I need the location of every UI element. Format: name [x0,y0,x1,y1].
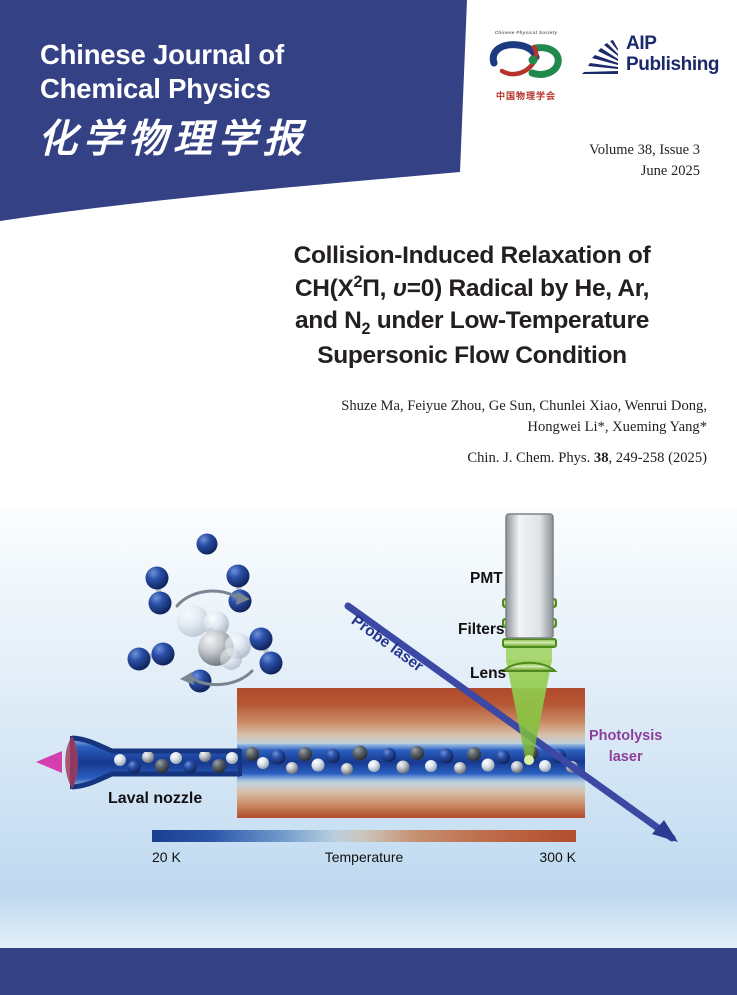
label-lens: Lens [470,665,506,683]
cps-logo-top-text: Chinese Physical Society [478,30,574,35]
label-filters: Filters [458,621,505,639]
chinese-physical-society-logo: Chinese Physical Society 中国物理学会 [478,30,574,102]
authors-line1: Shuze Ma, Feiyue Zhou, Ge Sun, Chunlei X… [247,396,707,417]
issue-info: Volume 38, Issue 3 June 2025 [589,140,700,181]
aip-line1: AIP [626,33,719,54]
title-line2-italic-nu: υ [393,275,407,302]
article-title-line2: CH(X2Π, υ=0) Radical by He, Ar, [237,272,707,305]
title-line3-part-a: and N [295,307,362,334]
citation: Chin. J. Chem. Phys. 38, 249-258 (2025) [247,450,707,467]
article-title-line3: and N2 under Low-Temperature [237,305,707,340]
label-pmt: PMT [470,570,503,588]
journal-title-chinese: 化学物理学报 [38,108,438,164]
volume-issue-line: Volume 38, Issue 3 [589,140,700,161]
article-title: Collision-Induced Relaxation of CH(X2Π, … [237,240,707,372]
issue-date-line: June 2025 [589,161,700,182]
title-line3-part-b: under Low-Temperature [370,307,649,334]
aip-fan-icon [578,38,624,78]
label-photolysis-laser: Photolysis laser [589,726,662,768]
pmt-detector [506,514,553,638]
author-list: Shuze Ma, Feiyue Zhou, Ge Sun, Chunlei X… [247,396,707,437]
focal-point [524,755,534,765]
n2-molecule [197,534,218,555]
n2-molecule [250,628,283,675]
title-line2-part-a: CH(X [295,275,354,302]
title-line2-part-b: Π, [362,275,392,302]
title-line2-part-c: =0) Radical by He, Ar, [407,275,649,302]
colorbar-title: Temperature [325,849,404,865]
molecule-cluster [128,534,283,693]
photolysis-label-line2: laser [589,747,662,768]
colorbar-max-label: 300 K [539,849,576,865]
colorbar-gradient [152,830,576,842]
temperature-colorbar: 20 K Temperature 300 K [152,830,576,867]
journal-cover: Chinese Journal of Chemical Physics 化学物理… [0,0,737,995]
title-line3-subscript: 2 [362,320,371,338]
aip-logo-text: AIP Publishing [626,33,719,76]
n2-molecule [227,565,252,613]
n2-molecule [128,643,175,671]
label-laval-nozzle: Laval nozzle [108,790,202,808]
colorbar-min-label: 20 K [152,849,181,865]
rotation-arrow-head [180,672,194,685]
authors-line2: Hongwei Li*, Xueming Yang* [247,417,707,438]
footer-bar [0,948,737,995]
journal-title-line1: Chinese Journal of [40,38,440,72]
journal-title-line2: Chemical Physics [40,72,440,106]
n2-molecule [146,567,172,615]
cps-logo-icon [486,39,566,81]
photolysis-label-line1: Photolysis [589,726,662,747]
aip-line2: Publishing [626,54,719,75]
article-title-line4: Supersonic Flow Condition [237,340,707,372]
citation-suffix: , 249-258 (2025) [609,450,708,466]
filter-bar [503,639,556,647]
article-title-line1: Collision-Induced Relaxation of [237,240,707,272]
cps-logo-bottom-text: 中国物理学会 [478,89,574,102]
ch-radical [177,605,251,670]
citation-volume: 38 [594,450,609,466]
citation-prefix: Chin. J. Chem. Phys. [467,450,594,466]
journal-title: Chinese Journal of Chemical Physics [40,38,440,105]
title-line2-superscript: 2 [354,273,363,291]
aip-publishing-logo: AIP Publishing [578,32,710,92]
